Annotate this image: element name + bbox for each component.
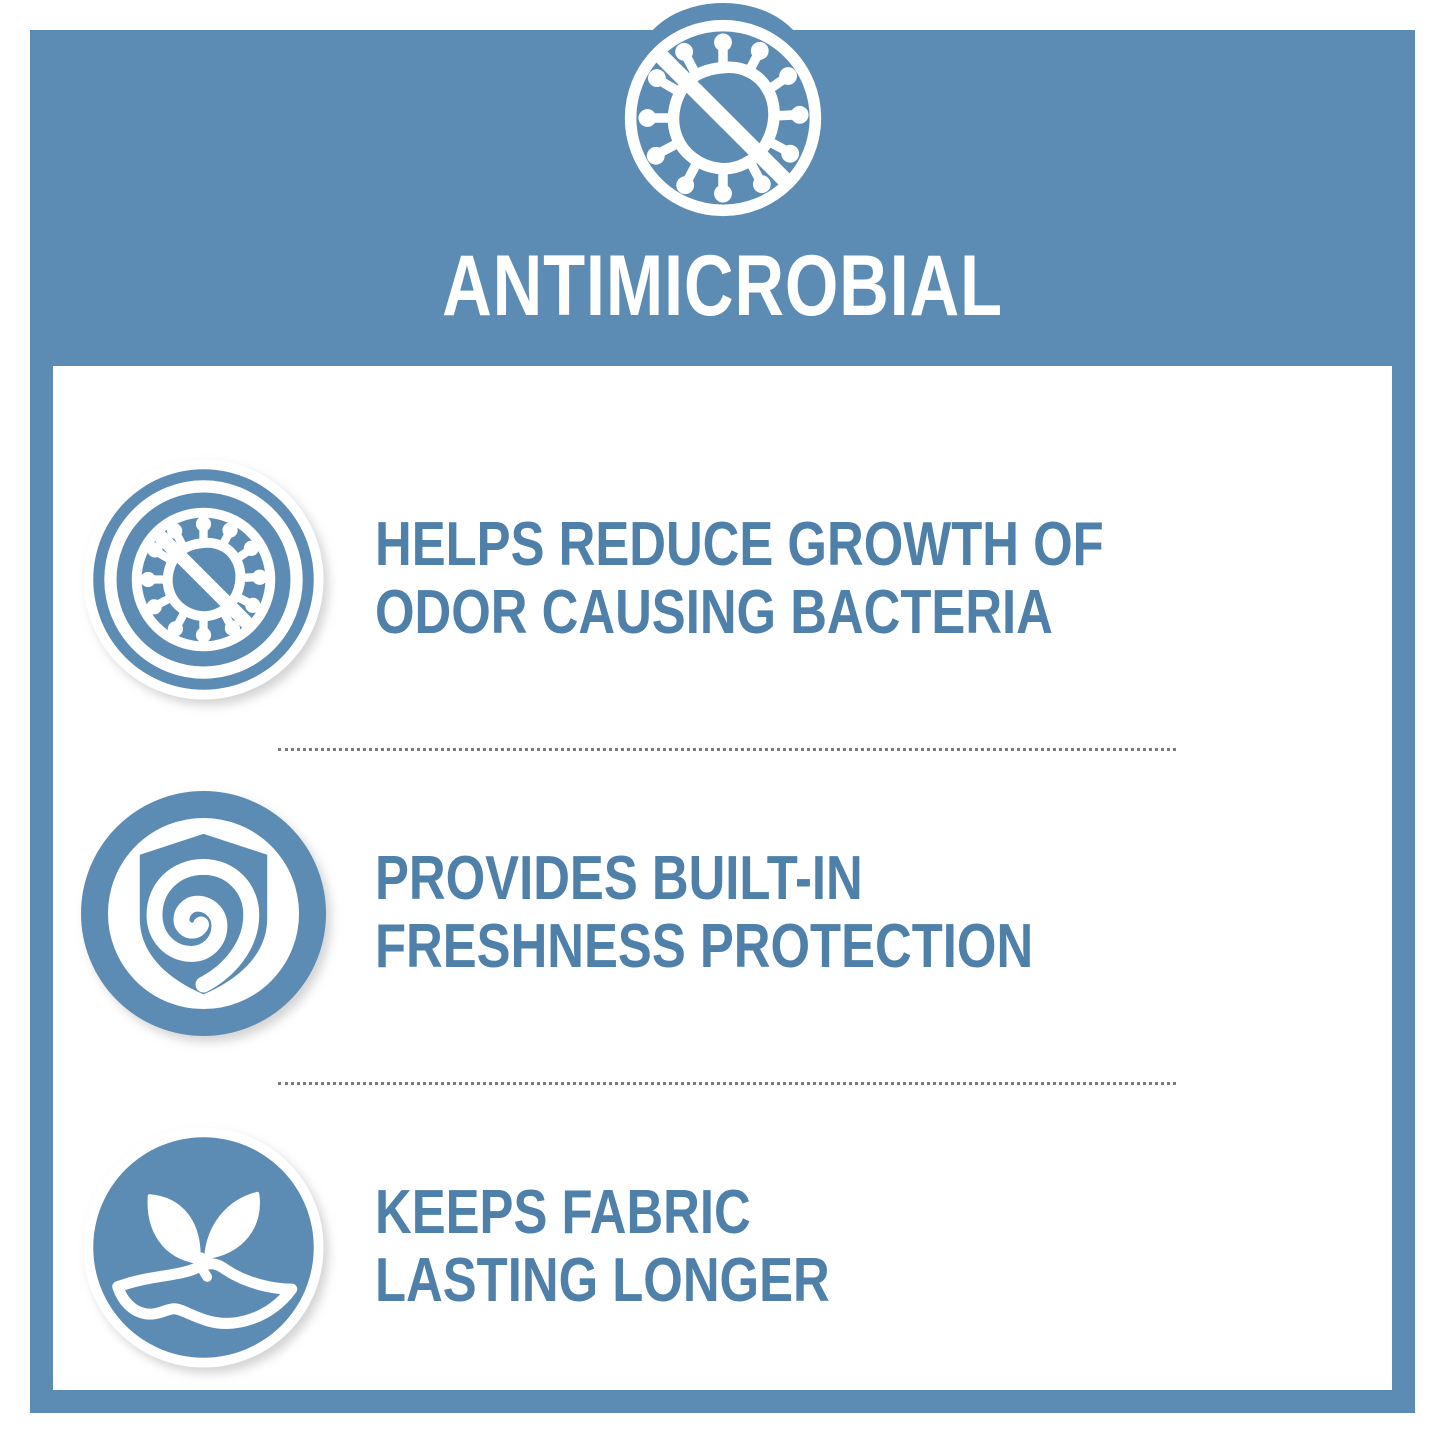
feature-icon-cell xyxy=(53,457,353,702)
blue-frame-panel: ANTIMICROBIAL xyxy=(30,30,1415,1413)
features-panel: HELPS REDUCE GROWTH OF ODOR CAUSING BACT… xyxy=(53,366,1392,1390)
page-title: ANTIMICROBIAL xyxy=(169,238,1277,334)
feature-text-line2: LASTING LONGER xyxy=(375,1247,1184,1315)
feature-text-line2: ODOR CAUSING BACTERIA xyxy=(375,579,1184,647)
feature-text-cell: KEEPS FABRIC LASTING LONGER xyxy=(353,1179,1392,1315)
shield-swirl-badge-icon xyxy=(81,791,326,1036)
antimicrobial-infographic: ANTIMICROBIAL xyxy=(0,0,1445,1445)
features-list: HELPS REDUCE GROWTH OF ODOR CAUSING BACT… xyxy=(53,366,1392,1390)
feature-icon-cell xyxy=(53,1125,353,1370)
feature-text-line2: FRESHNESS PROTECTION xyxy=(375,913,1184,981)
feature-icon-cell xyxy=(53,791,353,1036)
feature-row: HELPS REDUCE GROWTH OF ODOR CAUSING BACT… xyxy=(53,412,1392,746)
feature-text-cell: HELPS REDUCE GROWTH OF ODOR CAUSING BACT… xyxy=(353,511,1392,647)
no-germ-icon xyxy=(618,13,828,223)
header-section: ANTIMICROBIAL xyxy=(30,30,1415,366)
feature-row: PROVIDES BUILT-IN FRESHNESS PROTECTION xyxy=(53,746,1392,1080)
feature-text-line1: KEEPS FABRIC xyxy=(375,1179,1184,1247)
no-germ-badge-icon xyxy=(81,457,326,702)
sprout-leaf-badge-icon xyxy=(81,1125,326,1370)
feature-text-line1: PROVIDES BUILT-IN xyxy=(375,845,1184,913)
feature-row: KEEPS FABRIC LASTING LONGER xyxy=(53,1080,1392,1414)
feature-text-line1: HELPS REDUCE GROWTH OF xyxy=(375,511,1184,579)
feature-text-cell: PROVIDES BUILT-IN FRESHNESS PROTECTION xyxy=(353,845,1392,981)
